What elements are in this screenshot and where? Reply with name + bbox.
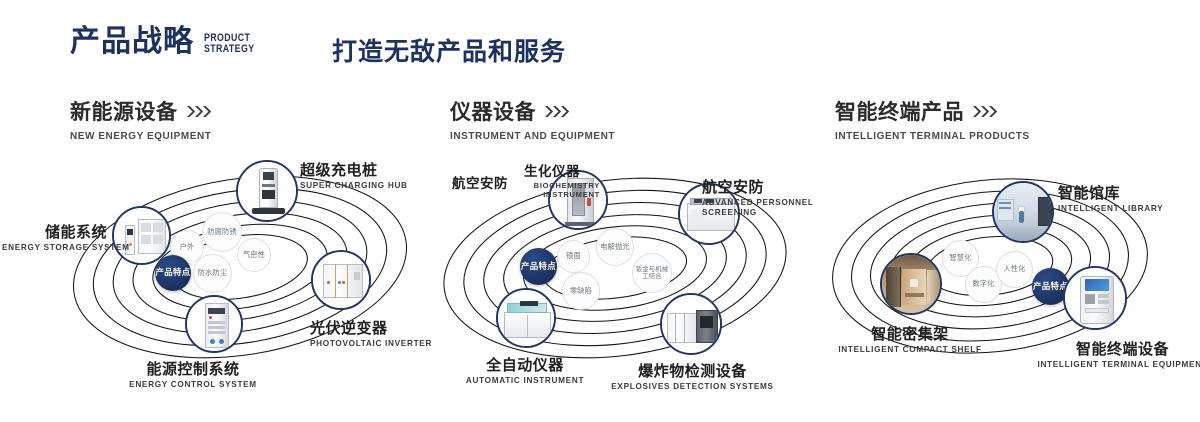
section-title-en: NEW ENERGY EQUIPMENT [70, 131, 213, 142]
feature-bubble: 人性化 [996, 251, 1033, 288]
feature-bubble: 气密性 [237, 238, 271, 272]
node-photo-energy-storage[interactable] [112, 206, 171, 265]
section-header-new-energy: 新能源设备 NEW ENERGY EQUIPMENT [70, 96, 213, 142]
page-title-en-line2: STRATEGY [204, 44, 254, 55]
section-title-cn: 仪器设备 [450, 96, 536, 126]
feature-bubble: 钣金与机械工结合 [632, 253, 672, 293]
node-photo-photovoltaic-inverter[interactable] [311, 250, 371, 310]
node-label-terminal-kiosk: 智能终端设备 INTELLIGENT TERMINAL EQUIPMENT [1020, 338, 1200, 370]
section-title-en: INSTRUMENT AND EQUIPMENT [450, 131, 615, 142]
page-subtitle: 打造无敌产品和服务 [332, 32, 566, 68]
page-title: 产品战略 PRODUCT STRATEGY [70, 27, 267, 57]
node-label-intelligent-library: 智能馆库 INTELLIGENT LIBRARY [1058, 182, 1198, 214]
node-photo-intelligent-library[interactable] [992, 181, 1054, 243]
chevron-right-icon [545, 106, 571, 117]
section-header-intelligent-terminal: 智能终端产品 INTELLIGENT TERMINAL PRODUCTS [835, 96, 1030, 142]
node-photo-compact-shelf[interactable] [880, 253, 942, 315]
page-title-cn: 产品战略 [70, 27, 194, 57]
feature-bubble: 防腐防锈 [202, 212, 242, 252]
node-photo-super-charging-hub[interactable] [236, 160, 298, 222]
center-badge: 产品特点 [520, 248, 557, 285]
node-label-biochemistry-instrument: 生化仪器 BIOCHEMISTRY INSTRUMENT [492, 160, 612, 200]
node-photo-energy-control-system[interactable] [185, 295, 243, 353]
section-title-cn: 新能源设备 [70, 96, 178, 126]
node-label-compact-shelf: 智能密集架 INTELLIGENT COMPACT SHELF [810, 323, 1010, 355]
feature-bubble: 防水防尘 [193, 254, 232, 293]
feature-bubble: 零缺陷 [562, 272, 600, 310]
node-label-photovoltaic-inverter: 光伏逆变器 PHOTOVOLTAIC INVERTER [310, 317, 450, 349]
node-photo-explosives-detection[interactable] [660, 293, 722, 355]
section-header-instrument: 仪器设备 INSTRUMENT AND EQUIPMENT [450, 96, 615, 142]
section-title-en: INTELLIGENT TERMINAL PRODUCTS [835, 131, 1030, 142]
node-label-explosives-detection: 爆炸物检测设备 EXPLOSIVES DETECTION SYSTEMS [590, 360, 795, 392]
feature-bubble: 电解抛光 [596, 228, 634, 266]
node-label-energy-control-system: 能源控制系统 ENERGY CONTROL SYSTEM [88, 358, 298, 390]
chevron-right-icon [187, 106, 213, 117]
orbit-diagram-new-energy: 户外 防腐防锈 防水防尘 气密性 产品特点 [60, 155, 420, 380]
chevron-right-icon [973, 106, 999, 117]
section-title-cn: 智能终端产品 [835, 96, 964, 126]
orbit-diagram-instrument: 镜面 电解抛光 零缺陷 钣金与机械工结合 产品特点 航空安防 [430, 158, 800, 383]
product-strategy-infographic: 产品战略 PRODUCT STRATEGY 打造无敌产品和服务 新能源设备 NE… [0, 0, 1200, 422]
node-label-energy-storage: 储能系统 ENERGY STORAGE SYSTEM [2, 221, 107, 253]
feature-bubble: 镜面 [557, 240, 590, 273]
page-title-en: PRODUCT STRATEGY [204, 33, 254, 55]
node-photo-automatic-instrument[interactable] [496, 288, 556, 348]
node-photo-terminal-kiosk[interactable] [1063, 266, 1127, 330]
orbit-diagram-intelligent-terminal: 智慧化 数字化 人性化 产品特点 智能馆库 INTELLIGENT LI [820, 158, 1160, 383]
